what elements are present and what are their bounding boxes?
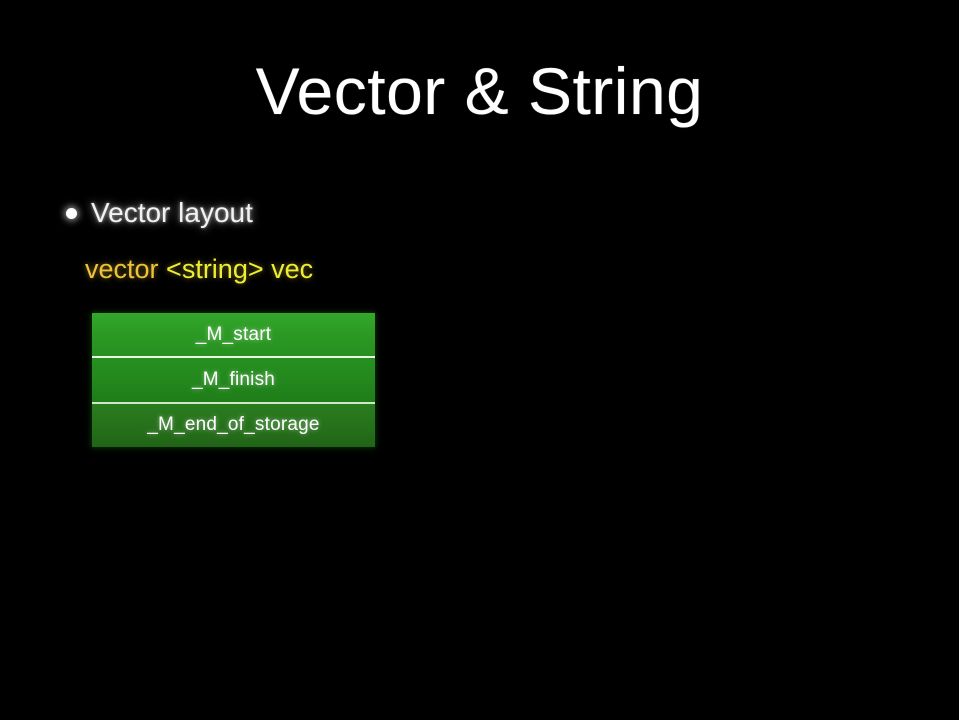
code-declaration: vector <string> vec bbox=[85, 255, 313, 285]
bullet-item-label: Vector layout bbox=[91, 198, 253, 229]
vector-field-m-finish: _M_finish bbox=[92, 358, 375, 403]
bullet-dot-icon bbox=[66, 208, 77, 219]
vector-layout-diagram: _M_start _M_finish _M_end_of_storage bbox=[92, 313, 375, 447]
vector-field-m-start: _M_start bbox=[92, 313, 375, 358]
bullet-item-vector-layout: Vector layout bbox=[66, 198, 253, 229]
vector-field-m-end-of-storage: _M_end_of_storage bbox=[92, 404, 375, 447]
code-token-type: vector bbox=[85, 254, 159, 284]
code-token-template-arg: <string> bbox=[166, 254, 264, 284]
page-title: Vector & String bbox=[0, 58, 959, 124]
code-token-space-1 bbox=[159, 254, 167, 284]
code-token-space-2 bbox=[264, 254, 272, 284]
code-token-identifier: vec bbox=[271, 254, 313, 284]
slide-canvas: Vector & String Vector layout vector <st… bbox=[0, 0, 959, 720]
